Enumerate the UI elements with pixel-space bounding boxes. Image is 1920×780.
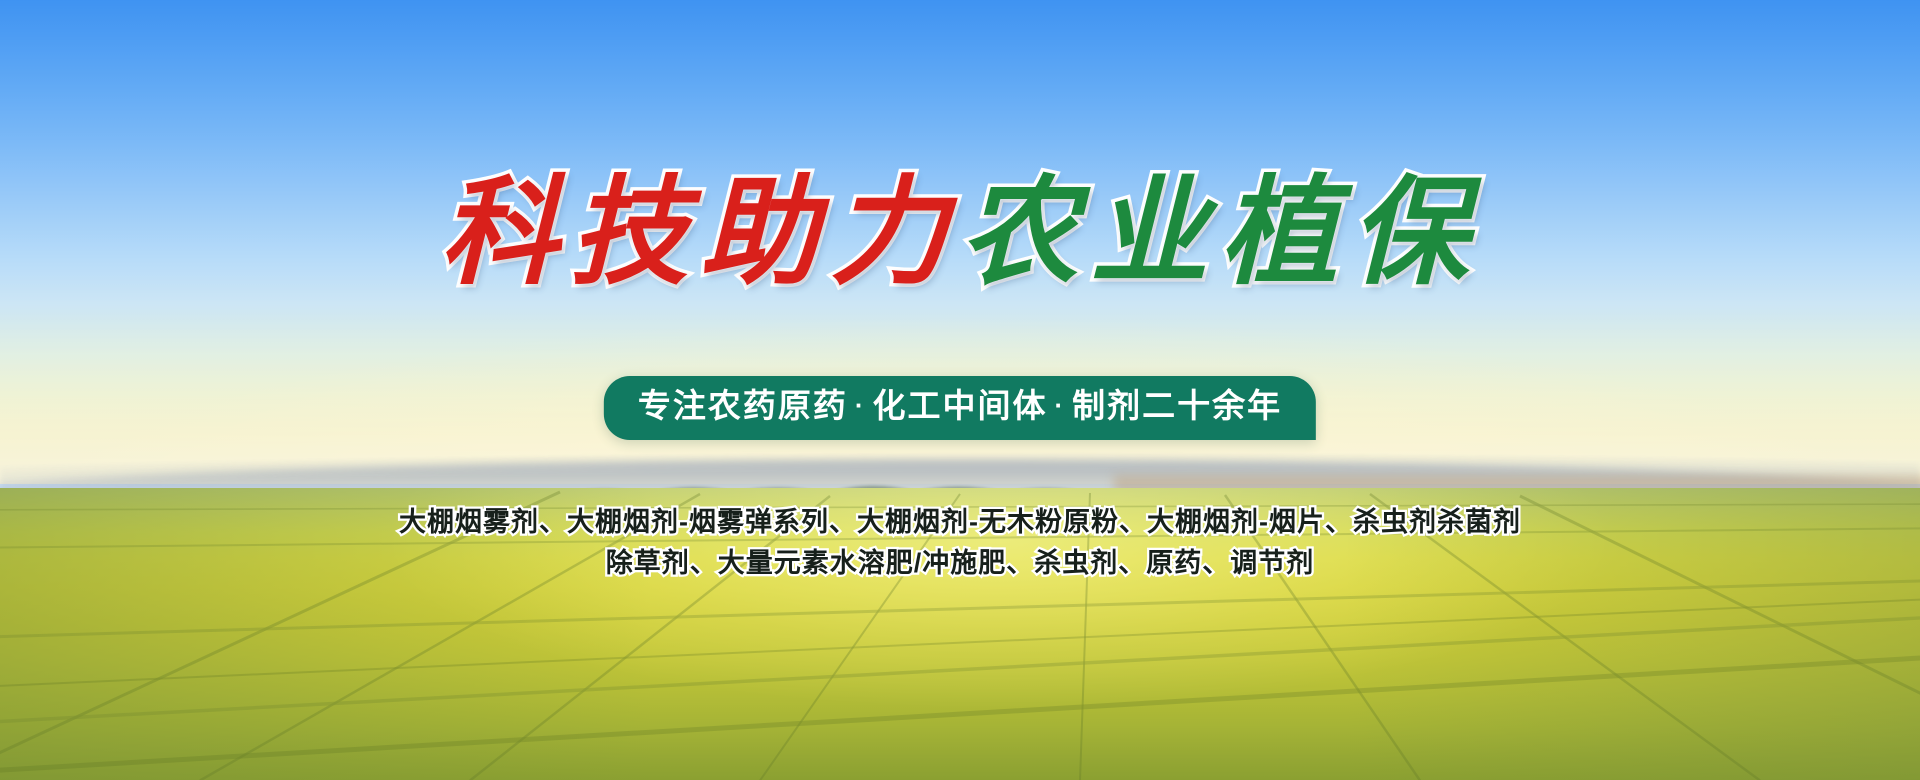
tagline-segment-2: 化工中间体 xyxy=(873,387,1048,424)
tagline-separator-1: · xyxy=(848,390,873,420)
headline-green-text: 农业植保 xyxy=(960,162,1480,301)
product-line-1: 大棚烟雾剂、大棚烟剂-烟雾弹系列、大棚烟剂-无木粉原粉、大棚烟剂-烟片、杀虫剂杀… xyxy=(0,502,1920,543)
headline-red-text: 科技助力 xyxy=(440,162,960,301)
headline: 科技助力农业植保 xyxy=(0,168,1920,295)
tagline-badge: 专注农药原药·化工中间体·制剂二十余年 xyxy=(604,376,1316,440)
product-list: 大棚烟雾剂、大棚烟剂-烟雾弹系列、大棚烟剂-无木粉原粉、大棚烟剂-烟片、杀虫剂杀… xyxy=(0,502,1920,584)
tagline-separator-2: · xyxy=(1048,390,1073,420)
product-line-2: 除草剂、大量元素水溶肥/冲施肥、杀虫剂、原药、调节剂 xyxy=(0,543,1920,584)
tagline-segment-3: 制剂二十余年 xyxy=(1072,387,1282,424)
tagline-segment-1: 专注农药原药 xyxy=(638,387,848,424)
banner-hero: 科技助力农业植保 专注农药原药·化工中间体·制剂二十余年 大棚烟雾剂、大棚烟剂-… xyxy=(0,0,1920,780)
